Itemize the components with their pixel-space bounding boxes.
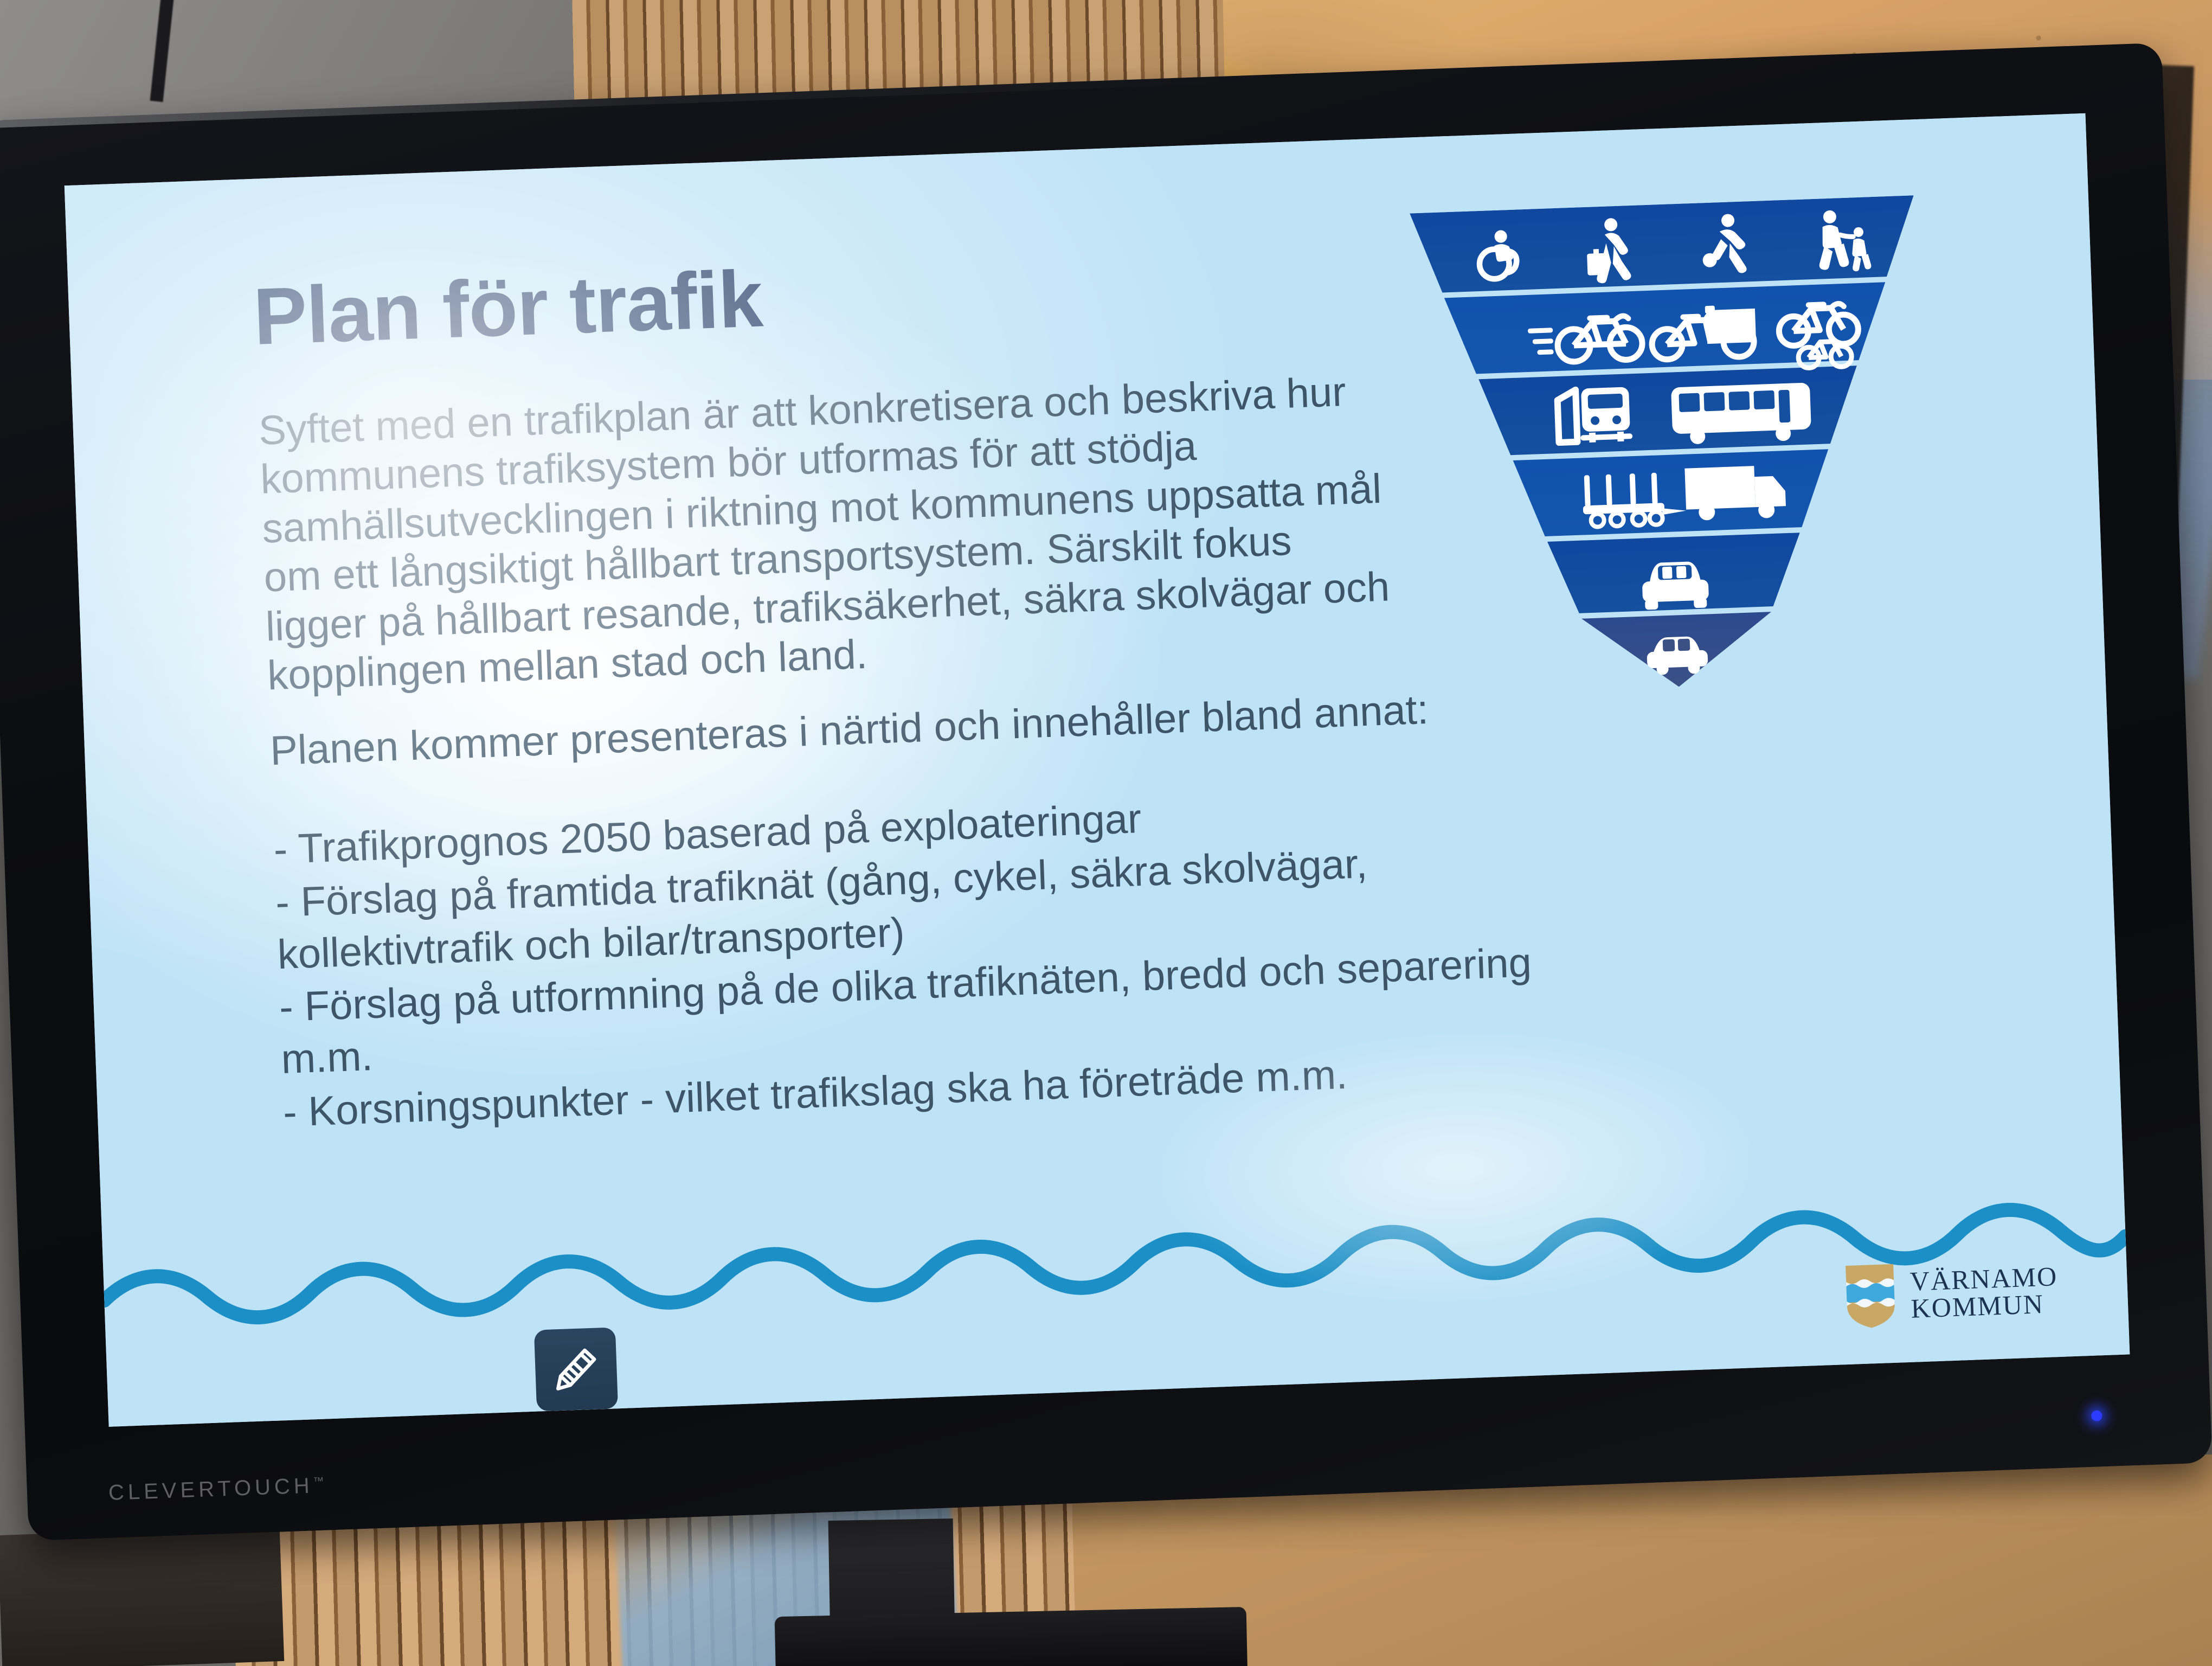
lead-in-text: Planen kommer presenteras i närtid och i… [269,683,1517,774]
monitor-stand-base [775,1607,1248,1666]
transport-hierarchy-pyramid [1410,195,1931,696]
logo-line-2: KOMMUN [1911,1290,2059,1322]
annotate-pencil-button[interactable] [534,1327,618,1411]
clevertouch-display: CLEVERTOUCH™ Plan för trafik Syftet med … [0,43,2212,1541]
shield-icon [1843,1262,1898,1331]
bullet-list: - Trafikprognos 2050 baserad på exploate… [273,779,1546,1139]
intro-paragraph: Syftet med en trafikplan är att konkreti… [258,366,1406,701]
varnamo-kommun-logo: VÄRNAMO KOMMUN [1843,1256,2060,1331]
slide-screen[interactable]: Plan för trafik Syftet med en trafikplan… [65,113,2130,1427]
dark-shelf [0,1526,284,1666]
brand-text: CLEVERTOUCH [108,1473,313,1504]
power-led-indicator [2091,1410,2102,1421]
logo-wordmark: VÄRNAMO KOMMUN [1909,1263,2059,1322]
pencil-icon [550,1343,602,1395]
page-title: Plan för trafik [252,253,764,363]
trademark-symbol: ™ [313,1475,324,1488]
clevertouch-brand-label: CLEVERTOUCH™ [108,1473,324,1505]
decorative-wave [102,1177,2126,1330]
